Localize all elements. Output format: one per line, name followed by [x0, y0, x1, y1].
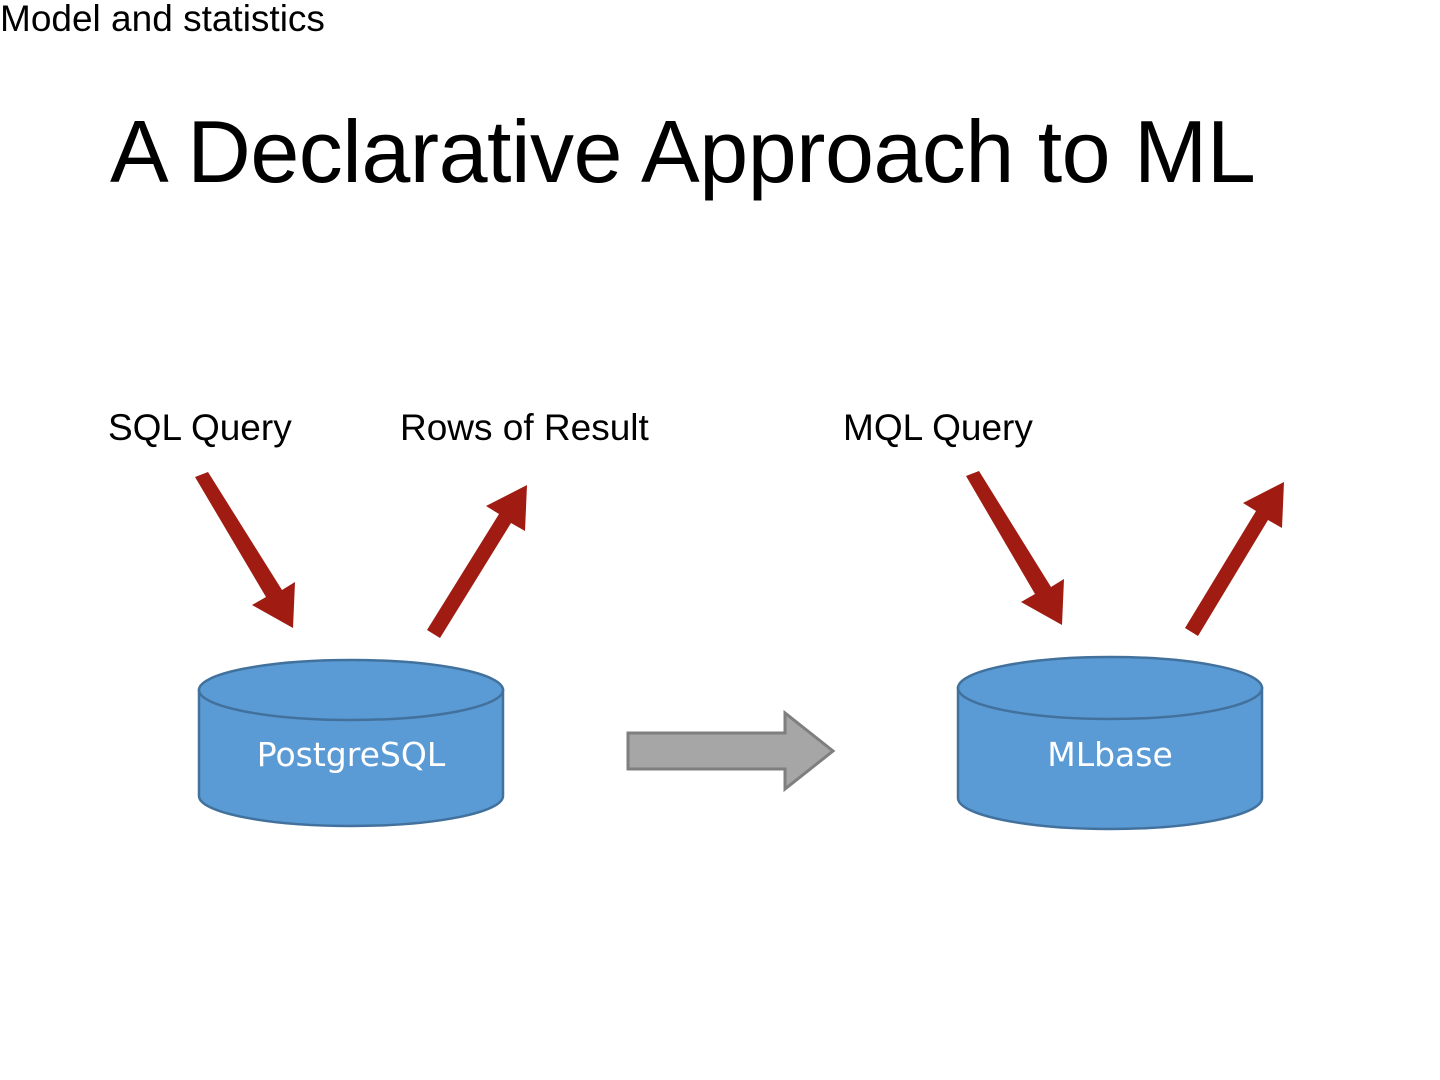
arrow-sql-query-in-icon [195, 472, 295, 628]
node-mlbase-label: MLbase [955, 654, 1265, 832]
slide-canvas: A Declarative Approach to ML SQL Query R… [0, 0, 1440, 1080]
label-mql-query: MQL Query [843, 409, 1033, 446]
arrow-rows-of-result-out-icon [427, 485, 527, 638]
page-title: A Declarative Approach to ML [110, 108, 1350, 196]
arrow-mql-query-in-icon [966, 471, 1064, 625]
arrow-transition-icon [628, 713, 833, 789]
label-sql-query: SQL Query [108, 409, 292, 446]
node-postgresql-label: PostgreSQL [196, 658, 506, 828]
label-rows-of-result: Rows of Result [400, 409, 649, 446]
arrow-model-statistics-out-icon [1185, 482, 1284, 636]
node-postgresql[interactable]: PostgreSQL [196, 658, 506, 828]
node-mlbase[interactable]: MLbase [955, 654, 1265, 832]
label-model-and-statistics: Model and statistics [0, 0, 325, 37]
